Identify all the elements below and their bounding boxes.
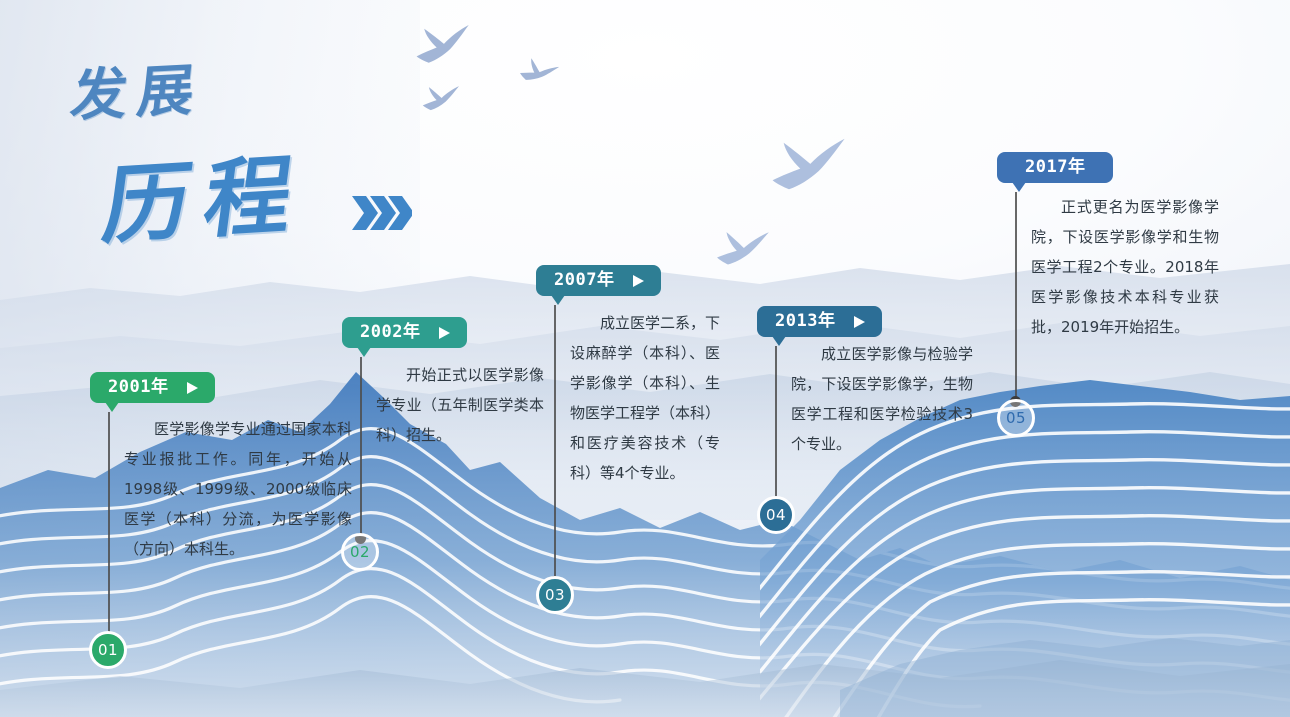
milestone-2002-badge[interactable]: 2002年 bbox=[342, 317, 467, 348]
bird-3-icon bbox=[421, 84, 462, 112]
milestone-2013-year: 2013年 bbox=[775, 313, 835, 330]
milestone-2017-text: 正式更名为医学影像学院，下设医学影像学和生物医学工程2个专业。2018年医学影像… bbox=[1031, 192, 1219, 342]
milestone-2001-index: 01 bbox=[98, 641, 118, 659]
slide-title: 发展 历程 bbox=[58, 34, 398, 219]
milestone-2007-node[interactable]: 03 bbox=[536, 576, 574, 614]
badge-pointer bbox=[105, 402, 119, 412]
bird-4-icon bbox=[767, 135, 852, 194]
milestone-2001-node[interactable]: 01 bbox=[89, 631, 127, 669]
milestone-2001-badge[interactable]: 2001年 bbox=[90, 372, 215, 403]
bird-5-icon bbox=[715, 230, 771, 267]
milestone-2007-index: 03 bbox=[545, 586, 565, 604]
milestone-2017[interactable]: 2017年 bbox=[997, 152, 1113, 183]
title-line-2: 历程 bbox=[97, 124, 316, 261]
milestone-2017-badge[interactable]: 2017年 bbox=[997, 152, 1113, 183]
milestone-2017-stem bbox=[1015, 192, 1017, 400]
play-triangle-icon bbox=[853, 315, 866, 329]
milestone-2007-year: 2007年 bbox=[554, 272, 614, 289]
milestone-2013-index: 04 bbox=[766, 506, 786, 524]
play-triangle-icon bbox=[186, 381, 199, 395]
badge-pointer bbox=[357, 347, 371, 357]
title-line-1: 发展 bbox=[67, 45, 208, 133]
milestone-2007-text: 成立医学二系，下设麻醉学（本科）、医学影像学（本科）、生物医学工程学（本科）和医… bbox=[570, 308, 720, 488]
milestone-2013-stem bbox=[775, 346, 777, 503]
milestone-2001-stem bbox=[108, 412, 110, 639]
milestone-2007-badge[interactable]: 2007年 bbox=[536, 265, 661, 296]
milestone-2017-year: 2017年 bbox=[1025, 159, 1085, 176]
milestone-2002-year: 2002年 bbox=[360, 324, 420, 341]
milestone-2007-stem bbox=[554, 305, 556, 583]
milestone-2013[interactable]: 2013年 bbox=[757, 306, 882, 337]
play-triangle-icon bbox=[438, 326, 451, 340]
badge-pointer bbox=[1012, 182, 1026, 192]
milestone-2001-text: 医学影像学专业通过国家本科专业报批工作。同年，开始从1998级、1999级、20… bbox=[124, 414, 352, 564]
slide-canvas: 发展 历程 2001年 医学影像学专业通过国家本科专业报批工作。同年，开始从19… bbox=[0, 0, 1290, 717]
milestone-2001-year: 2001年 bbox=[108, 379, 168, 396]
milestone-2017-node[interactable]: 05 bbox=[997, 399, 1035, 437]
milestone-2013-badge[interactable]: 2013年 bbox=[757, 306, 882, 337]
milestone-2002-index: 02 bbox=[350, 543, 370, 561]
milestone-2007[interactable]: 2007年 bbox=[536, 265, 661, 296]
play-triangle-icon bbox=[632, 274, 645, 288]
milestone-2013-node[interactable]: 04 bbox=[757, 496, 795, 534]
badge-pointer bbox=[772, 336, 786, 346]
milestone-2002-stem bbox=[360, 357, 362, 540]
double-chevron-right-icon bbox=[350, 192, 412, 239]
milestone-2002-node[interactable]: 02 bbox=[341, 533, 379, 571]
bird-1-icon bbox=[412, 22, 475, 66]
milestone-2001[interactable]: 2001年 bbox=[90, 372, 215, 403]
milestone-2017-index: 05 bbox=[1006, 409, 1026, 427]
milestone-2002-text: 开始正式以医学影像学专业（五年制医学类本科）招生。 bbox=[376, 360, 544, 450]
badge-pointer bbox=[551, 295, 565, 305]
milestone-2002[interactable]: 2002年 bbox=[342, 317, 467, 348]
milestone-2013-text: 成立医学影像与检验学院，下设医学影像学，生物医学工程和医学检验技术3个专业。 bbox=[791, 339, 973, 459]
